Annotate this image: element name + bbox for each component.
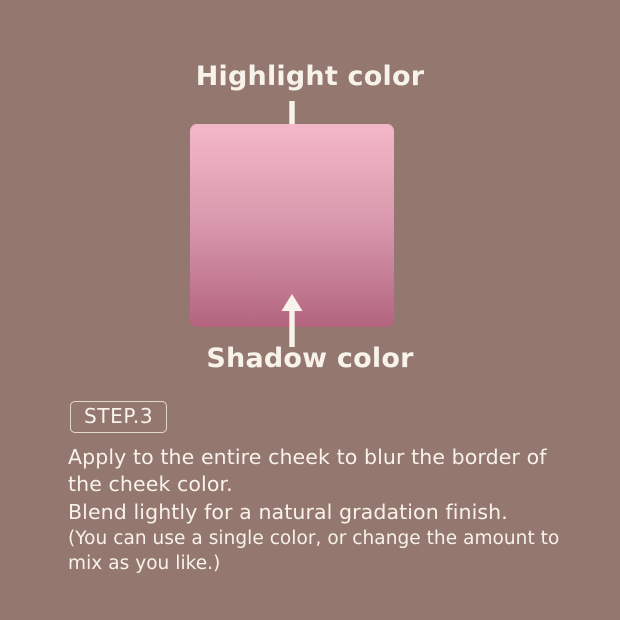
step-badge: STEP.3	[70, 401, 167, 433]
arrow-up-icon	[279, 291, 305, 347]
description-line: Blend lightly for a natural gradation fi…	[68, 499, 578, 526]
description-line: mix as you like.)	[68, 551, 578, 577]
tutorial-card: Highlight color Shadow color STEP.3 Appl…	[0, 0, 620, 620]
shadow-color-label: Shadow color	[0, 344, 620, 374]
highlight-color-label: Highlight color	[0, 62, 620, 92]
step-description: Apply to the entire cheek to blur the bo…	[68, 444, 578, 577]
description-line: the cheek color.	[68, 471, 578, 498]
description-line: Apply to the entire cheek to blur the bo…	[68, 444, 578, 471]
description-line: (You can use a single color, or change t…	[68, 526, 578, 552]
